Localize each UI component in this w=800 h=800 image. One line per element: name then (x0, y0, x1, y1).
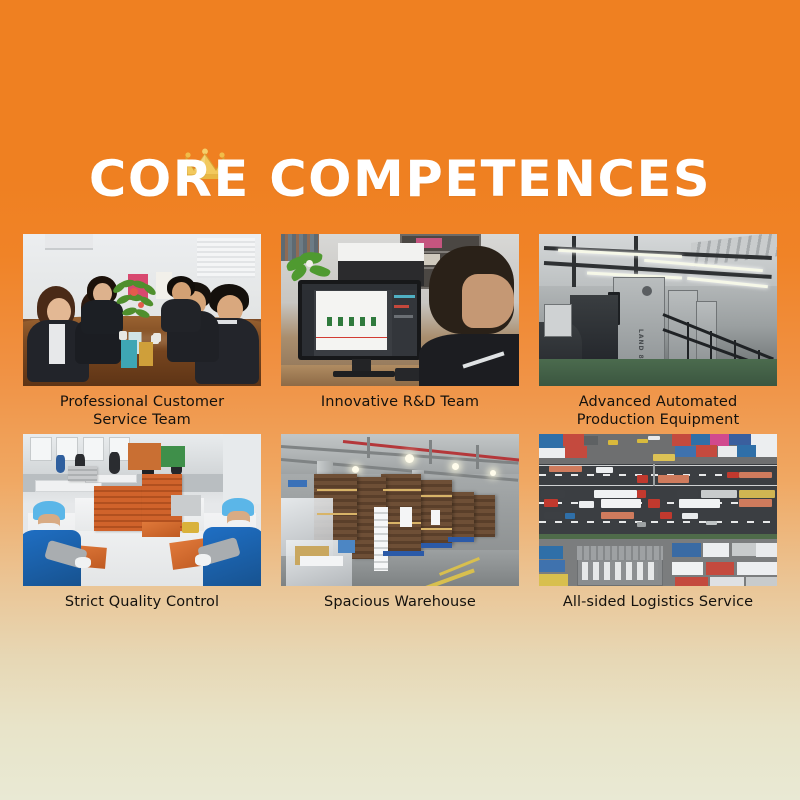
photo-container-truck (658, 475, 689, 483)
card-caption: Professional Customer Service Team (23, 386, 261, 430)
caption-line-1: Advanced Automated (539, 393, 777, 411)
photo-red-cab (544, 499, 558, 507)
photo-red-cab (648, 499, 660, 508)
photo-gold-box (139, 342, 153, 366)
photo-pallet-label (400, 507, 412, 527)
card-caption: Innovative R&D Team (281, 386, 519, 430)
photo-window-blind (197, 238, 255, 278)
photo-left-tool-palette (302, 290, 315, 356)
photo-distant-unit (544, 304, 573, 337)
photo-ceiling-lamp (490, 470, 496, 476)
card-innovative-rd-team[interactable]: Innovative R&D Team (281, 234, 519, 430)
photo-flatbed (701, 490, 737, 498)
photo-bg-machine (128, 443, 161, 470)
photo-white-trailer (679, 499, 719, 508)
photo-person-right-3 (161, 276, 203, 332)
photo-box-stack-3 (68, 466, 97, 481)
photo-orange-container (601, 512, 634, 520)
photo-truck-cab (541, 490, 565, 498)
title-block: CORE COMPETENCES (0, 152, 800, 206)
photo-flower (306, 260, 313, 267)
photo-car (637, 522, 647, 527)
photo-monitor (298, 280, 422, 361)
photo-designer-at-monitor (281, 234, 519, 386)
photo-white-van (596, 467, 613, 472)
photo-label-strip (300, 556, 343, 567)
caption-line-2: Production Equipment (539, 411, 777, 429)
photo-person-shirt (419, 334, 519, 386)
photo-car (608, 440, 618, 445)
photo-cad-shapes (327, 317, 376, 326)
photo-floor (539, 359, 777, 386)
photo-white-van (579, 501, 593, 509)
card-strict-quality-control[interactable]: Strict Quality Control (23, 434, 261, 611)
photo-label-strip (374, 507, 388, 571)
photo-white-van (682, 513, 699, 519)
photo-bg-machine-2 (161, 446, 185, 467)
photo-blue-bundle (338, 540, 355, 552)
photo-car (648, 436, 660, 441)
photo-red-truck (727, 472, 739, 478)
caption-line-1: Innovative R&D Team (281, 393, 519, 411)
photo-container-truck (549, 466, 582, 472)
photo-monitor-screen (302, 284, 418, 357)
photo-building-bays (582, 562, 658, 580)
photo-building-roof (577, 546, 663, 560)
competences-grid: Professional Customer Service Team (23, 234, 777, 611)
card-caption: Advanced Automated Production Equipment (539, 386, 777, 430)
photo-torso (161, 299, 201, 332)
photo-warehouse-pallets (281, 434, 519, 586)
photo-container-truck (739, 472, 772, 478)
photo-car (637, 439, 649, 444)
photo-worker-glove (195, 554, 211, 565)
photo-white-trailer (594, 490, 637, 498)
card-professional-customer-service-team[interactable]: Professional Customer Service Team (23, 234, 261, 430)
photo-yellow-flatbed (739, 490, 775, 498)
photo-teal-box (121, 340, 137, 368)
photo-meeting-room (23, 234, 261, 386)
photo-table-plant (112, 280, 158, 338)
card-all-sided-logistics-service[interactable]: All-sided Logistics Service (539, 434, 777, 611)
caption-line-1: Strict Quality Control (23, 593, 261, 611)
caption-line-2: Service Team (23, 411, 261, 429)
card-caption: Spacious Warehouse (281, 586, 519, 611)
photo-pallet-label (431, 510, 441, 525)
poster-canvas: CORE COMPETENCES (0, 0, 800, 800)
photo-person-face (462, 274, 514, 329)
card-caption: All-sided Logistics Service (539, 586, 777, 611)
photo-monitor-base (333, 371, 395, 377)
photo-truck-cab (544, 512, 563, 520)
card-caption: Strict Quality Control (23, 586, 261, 611)
photo-red-cab (660, 512, 672, 520)
photo-red-truck (637, 475, 649, 483)
grid-row-2: Strict Quality Control (23, 434, 777, 611)
card-advanced-automated-production-equipment[interactable]: LAND 800 (539, 234, 777, 430)
photo-car (706, 521, 718, 526)
photo-worker-left (23, 501, 99, 586)
photo-quality-inspection (23, 434, 261, 586)
photo-air-conditioner (45, 234, 93, 250)
caption-line-1: Spacious Warehouse (281, 593, 519, 611)
grid-row-1: Professional Customer Service Team (23, 234, 777, 430)
photo-worker-right (185, 498, 261, 586)
page-title: CORE COMPETENCES (89, 152, 711, 206)
photo-plant (286, 252, 336, 282)
photo-yellow-truck (653, 454, 674, 462)
photo-truck-cab (677, 490, 698, 498)
photo-box-flat-1 (142, 522, 180, 537)
photo-container-truck (739, 499, 772, 507)
caption-line-1: All-sided Logistics Service (539, 593, 777, 611)
photo-press-logo (642, 286, 652, 296)
photo-wall-right (223, 434, 261, 504)
photo-cad-guideline (316, 337, 388, 338)
photo-blue-car (565, 513, 575, 519)
photo-shirt (49, 324, 65, 364)
card-spacious-warehouse[interactable]: Spacious Warehouse (281, 434, 519, 611)
caption-line-1: Professional Customer (23, 393, 261, 411)
photo-worker-glove (75, 557, 91, 568)
photo-printing-press: LAND 800 (539, 234, 777, 386)
photo-aerial-container-yard (539, 434, 777, 586)
photo-right-panel (392, 290, 417, 356)
photo-blue-sign (288, 480, 307, 488)
photo-ceiling-lamp (405, 454, 414, 463)
photo-box-stack-1 (94, 486, 142, 532)
photo-white-trailer (601, 499, 641, 508)
photo-red-cab (637, 490, 647, 498)
